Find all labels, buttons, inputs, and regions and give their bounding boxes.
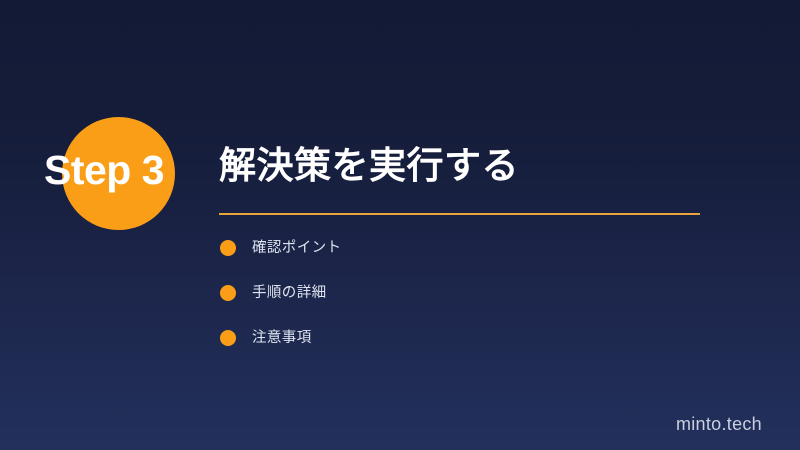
step-badge: Step 3 bbox=[0, 0, 260, 260]
slide-title-block: 解決策を実行する bbox=[219, 144, 764, 188]
list-item: 手順の詳細 bbox=[220, 284, 680, 329]
slide-title: 解決策を実行する bbox=[219, 144, 764, 188]
list-item: 確認ポイント bbox=[220, 239, 680, 284]
bullet-list: 確認ポイント 手順の詳細 注意事項 bbox=[220, 239, 680, 374]
list-item: 注意事項 bbox=[220, 329, 680, 374]
bullet-label: 手順の詳細 bbox=[252, 284, 327, 302]
bullet-dot-icon bbox=[220, 285, 236, 301]
footer-brand: minto.tech bbox=[676, 414, 762, 435]
bullet-dot-icon bbox=[220, 240, 236, 256]
step-number-label: Step 3 bbox=[44, 150, 244, 191]
bullet-label: 注意事項 bbox=[252, 329, 312, 347]
title-underline-rule bbox=[219, 213, 700, 215]
bullet-dot-icon bbox=[220, 330, 236, 346]
bullet-label: 確認ポイント bbox=[252, 239, 341, 257]
presentation-slide: Step 3 解決策を実行する 確認ポイント 手順の詳細 注意事項 minto.… bbox=[0, 0, 800, 450]
